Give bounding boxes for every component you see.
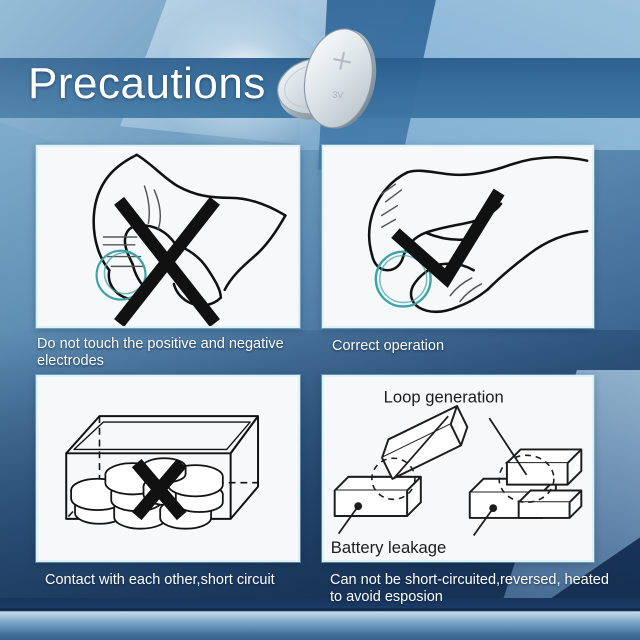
page-title: Precautions [28,62,266,106]
label-battery-leakage: Battery leakage [331,538,447,557]
illustration-hand-hold-battery-edges [324,147,592,326]
precautions-infographic: Precautions [0,0,640,640]
illustration-hand-pinch-battery [38,147,298,326]
panel-do-not-touch-electrodes [36,145,300,328]
label-loop-generation: Loop generation [384,387,504,406]
check-mark-icon [395,192,499,278]
battery-voltage-label: 3V [332,90,344,101]
illustration-box-of-loose-batteries [38,377,298,560]
caption-correct-operation: Correct operation [332,338,594,355]
panel-short-circuit [36,375,300,562]
panel-no-short-reverse-heat: Loop generation [322,375,594,562]
caption-no-short-reverse-heat: Can not be short-circuited,reversed, hea… [330,572,612,606]
caption-do-not-touch-electrodes: Do not touch the positive and negative e… [37,336,302,370]
illustration-stacked-batteries-loop: Loop generation [324,377,592,560]
caption-short-circuit: Contact with each other,short circuit [45,572,311,589]
coin-cell-batteries-photo: 3V [262,18,407,143]
panel-correct-operation [322,145,594,328]
